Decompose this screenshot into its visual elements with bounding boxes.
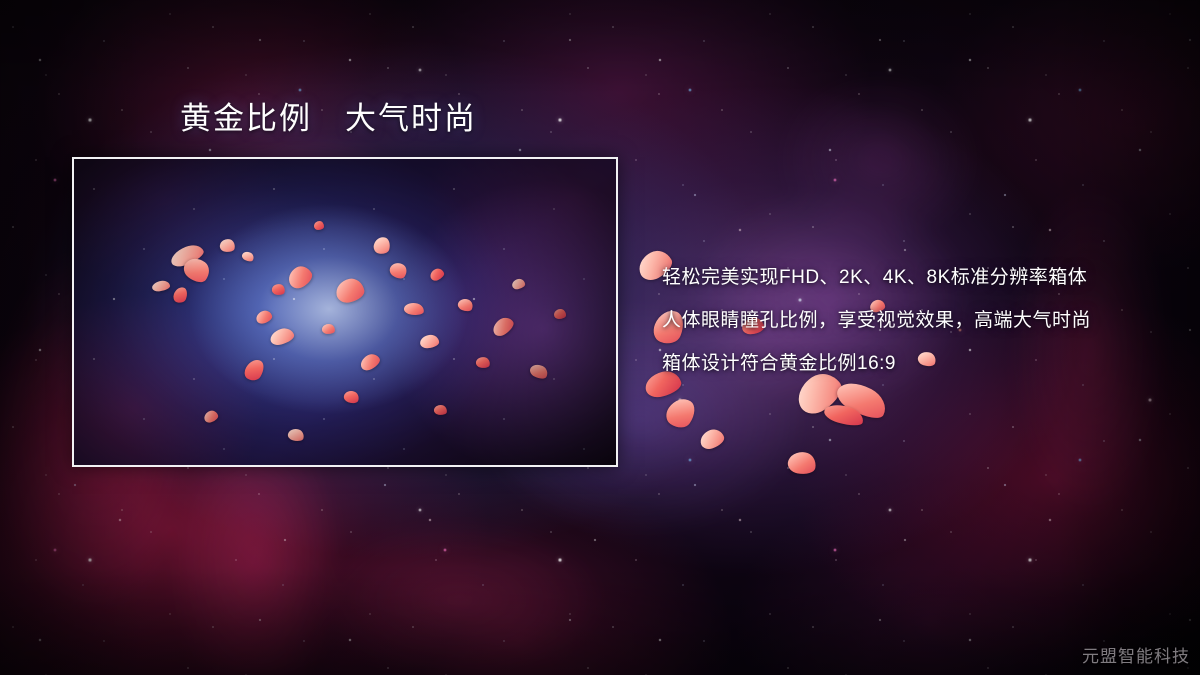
flower-petal-icon — [419, 334, 439, 349]
flower-petal-icon — [528, 362, 550, 382]
flower-petal-icon — [203, 409, 220, 424]
flower-petal-icon — [255, 309, 274, 325]
flower-petal-icon — [698, 426, 727, 451]
flower-petal-icon — [322, 323, 336, 334]
flower-petal-icon — [241, 250, 256, 263]
flower-petal-icon — [475, 356, 491, 369]
preview-nebula-image — [74, 159, 616, 465]
flower-petal-icon — [456, 297, 474, 314]
flower-petal-icon — [268, 326, 295, 347]
flower-petal-icon — [786, 450, 817, 477]
flower-petal-icon — [168, 241, 206, 269]
flower-petal-icon — [554, 309, 566, 319]
flower-petal-icon — [287, 427, 305, 443]
flower-petal-icon — [271, 283, 286, 296]
flower-petal-icon — [172, 285, 190, 304]
flower-petal-icon — [403, 302, 424, 317]
flower-petal-icon — [662, 393, 700, 432]
presentation-slide: 黄金比例 大气时尚 轻松完美实现FHD、2K、4K、8K标准分辨率箱体 人体眼睛… — [0, 0, 1200, 675]
body-line-1: 轻松完美实现FHD、2K、4K、8K标准分辨率箱体 — [662, 256, 1182, 299]
flower-petal-icon — [314, 221, 324, 230]
flower-petal-icon — [822, 401, 865, 429]
image-frame — [72, 157, 618, 467]
flower-petal-icon — [387, 260, 409, 282]
flower-petal-icon — [242, 356, 268, 384]
body-line-2: 人体眼睛瞳孔比例，享受视觉效果，高端大气时尚 — [662, 299, 1182, 342]
flower-petal-icon — [334, 276, 366, 304]
page-title: 黄金比例 大气时尚 — [180, 100, 477, 139]
watermark: 元盟智能科技 — [1082, 642, 1190, 667]
flower-petal-icon — [372, 235, 392, 255]
flower-petal-icon — [343, 389, 361, 405]
preview-star-field-icon — [74, 159, 616, 465]
flower-petal-icon — [428, 267, 445, 283]
flower-petal-icon — [358, 351, 382, 373]
body-line-3: 箱体设计符合黄金比例16:9 — [662, 342, 1182, 385]
flower-petal-icon — [490, 314, 517, 339]
flower-petal-icon — [511, 278, 526, 290]
flower-petal-icon — [285, 262, 316, 291]
flower-petal-icon — [433, 404, 447, 416]
flower-petal-icon — [151, 280, 170, 292]
preview-vignette — [74, 159, 616, 465]
flower-petal-icon — [180, 253, 214, 286]
flower-petal-icon — [219, 238, 236, 253]
body-paragraph: 轻松完美实现FHD、2K、4K、8K标准分辨率箱体 人体眼睛瞳孔比例，享受视觉效… — [662, 256, 1182, 385]
